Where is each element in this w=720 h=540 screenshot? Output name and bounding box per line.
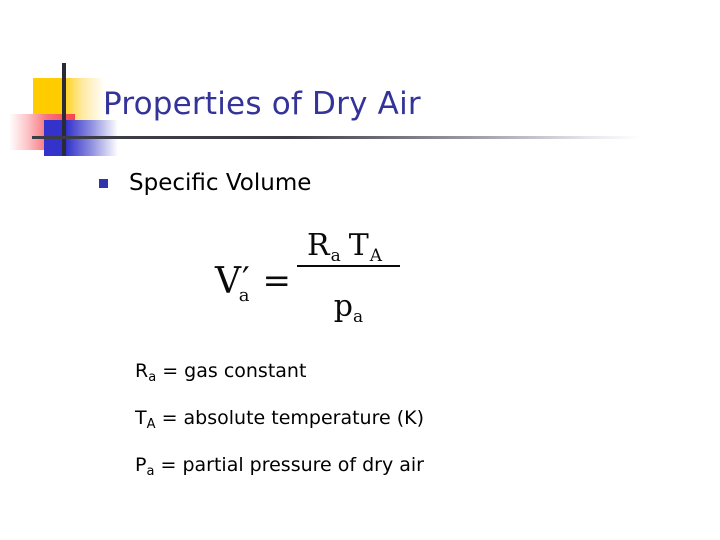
equation-numerator: RaTA xyxy=(297,228,400,265)
equation-left-hand-side: V′a xyxy=(215,264,260,300)
definition-symbol-subscript: a xyxy=(146,459,154,485)
definition-description: = gas constant xyxy=(162,360,306,382)
definition-symbol-subscript: a xyxy=(148,365,156,391)
equation-numerator-t-subscript: A xyxy=(370,246,383,266)
equation-numerator-r-subscript: a xyxy=(331,246,342,266)
square-bullet-icon xyxy=(99,179,108,188)
definition-line: Pa = partial pressure of dry air xyxy=(135,452,424,481)
definition-line: TA = absolute temperature (K) xyxy=(135,405,424,434)
equation-lhs-subscript: a xyxy=(239,287,250,305)
equation-denominator-subscript: a xyxy=(353,307,363,327)
definition-description: = absolute temperature (K) xyxy=(162,407,424,429)
equation-numerator-t: T xyxy=(349,228,370,263)
definition-description: = partial pressure of dry air xyxy=(160,454,424,476)
bullet-item-label: Specific Volume xyxy=(129,168,311,198)
definition-line: Ra = gas constant xyxy=(135,358,424,387)
equation-equals-sign: = xyxy=(262,261,291,301)
decoration-vertical-line xyxy=(62,63,66,156)
specific-volume-equation: V′a = RaTA pa xyxy=(215,228,400,324)
equation-fraction: RaTA pa xyxy=(297,228,400,324)
definition-symbol: Pa xyxy=(135,452,154,481)
equation-denominator: pa xyxy=(334,267,363,324)
decoration-yellow-square-icon xyxy=(33,78,105,126)
definition-symbol: TA xyxy=(135,405,156,434)
equation-lhs-symbol: V xyxy=(215,264,241,300)
equation-numerator-r: R xyxy=(307,228,331,263)
variable-definitions-list: Ra = gas constant TA = absolute temperat… xyxy=(135,358,424,481)
slide-title: Properties of Dry Air xyxy=(103,84,421,124)
definition-symbol-base: T xyxy=(135,405,147,431)
equation-denominator-p: p xyxy=(334,289,353,324)
definition-symbol-base: P xyxy=(135,452,146,478)
definition-symbol: Ra xyxy=(135,358,156,387)
title-underline-rule xyxy=(32,136,640,139)
definition-symbol-base: R xyxy=(135,358,148,384)
definition-symbol-subscript: A xyxy=(147,412,156,438)
bullet-list-item: Specific Volume xyxy=(99,168,311,198)
decoration-red-square-icon xyxy=(9,114,75,150)
